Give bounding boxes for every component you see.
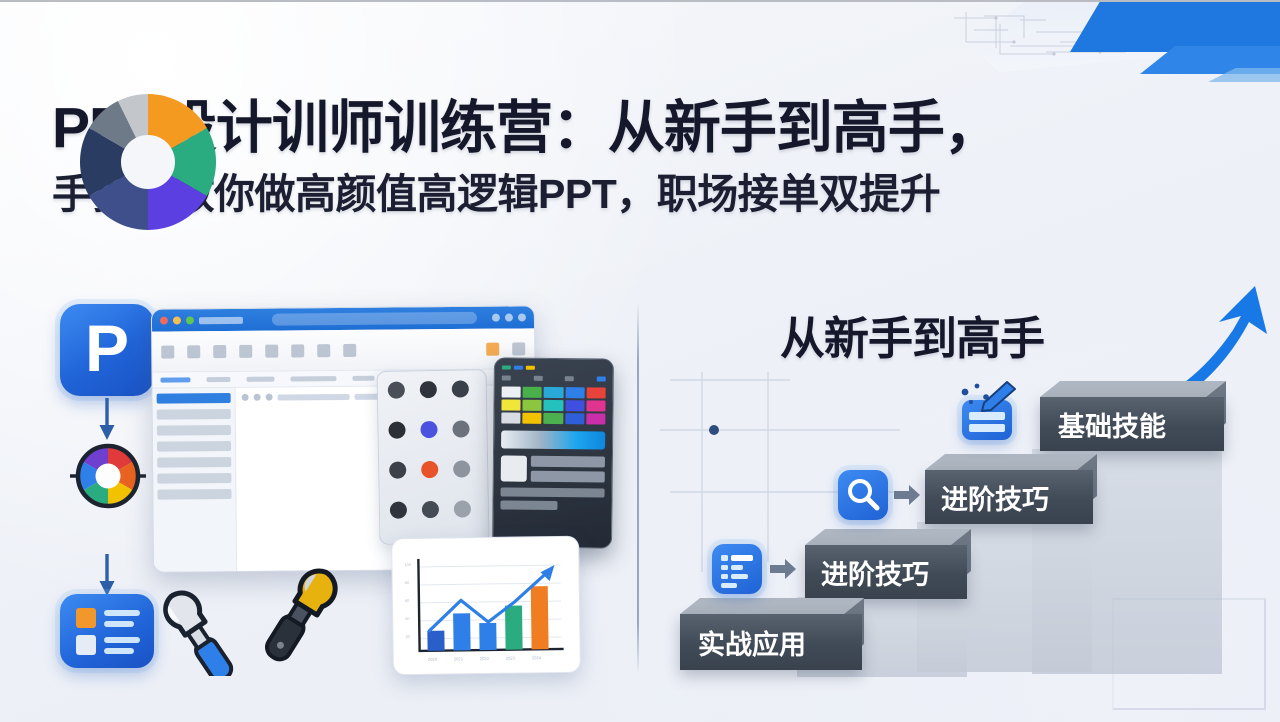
panel-toolbar[interactable] (502, 375, 606, 381)
panel-swatch[interactable] (586, 400, 605, 411)
powerpoint-letter: P (85, 315, 129, 381)
svg-text:2020: 2020 (428, 657, 438, 662)
panel-tool-icon[interactable] (565, 376, 574, 381)
svg-text:2022: 2022 (480, 656, 490, 661)
settings-icon[interactable] (518, 313, 526, 321)
ribbon-icon[interactable] (343, 343, 356, 356)
svg-text:100: 100 (404, 562, 412, 567)
step-basic-skills: 基础技能 (1040, 397, 1224, 451)
sidebar-item[interactable] (157, 457, 231, 468)
sidebar-item[interactable] (157, 473, 231, 484)
arrow-right-icon (894, 485, 920, 505)
panel-tool-icon[interactable] (597, 376, 606, 381)
swatch[interactable] (390, 501, 407, 518)
swatch[interactable] (388, 381, 405, 398)
step-label: 进阶技巧 (941, 478, 1049, 517)
panel-bar (531, 456, 605, 468)
vertical-divider (637, 302, 639, 674)
step-advanced-lower: 进阶技巧 (805, 545, 967, 599)
swatch[interactable] (452, 420, 469, 437)
account-icon[interactable] (505, 314, 513, 322)
canvas-dot-icon (254, 394, 261, 401)
panel-swatch[interactable] (586, 387, 605, 398)
panel-thumbnail[interactable] (501, 455, 527, 481)
layout-tile-icon (60, 594, 154, 668)
swatch[interactable] (420, 421, 437, 438)
window-title-text (199, 316, 243, 323)
swatch[interactable] (420, 381, 437, 398)
swatch[interactable] (454, 500, 471, 517)
corner-decoration (920, 2, 1280, 94)
panel-bar (531, 471, 605, 483)
step-label: 实战应用 (698, 623, 806, 662)
step-label: 基础技能 (1058, 405, 1166, 444)
panel-chip (526, 366, 535, 370)
panel-header (502, 365, 606, 370)
left-icon-stack: P (56, 302, 162, 662)
tab-item[interactable] (352, 376, 374, 381)
panel-swatch[interactable] (544, 400, 563, 411)
swatch[interactable] (389, 461, 406, 478)
step-face: 进阶技巧 (925, 470, 1093, 524)
panel-swatch[interactable] (501, 399, 520, 410)
canvas-dot-icon (266, 394, 273, 401)
share-icon[interactable] (492, 314, 500, 322)
search-icon[interactable] (838, 470, 888, 520)
sidebar-item[interactable] (157, 441, 231, 452)
grid-dot-icon (709, 425, 719, 435)
panel-chip (514, 366, 523, 370)
ribbon-icon[interactable] (291, 344, 304, 357)
wrench-tools-icon (160, 558, 360, 676)
headline-block: PPT设计训师训练营：从新手到高手， 手把手教你做高颜值高逻辑PPT，职场接单双… (52, 98, 1242, 218)
panel-swatch[interactable] (523, 387, 542, 398)
panel-swatch[interactable] (501, 412, 520, 423)
color-palette-panel[interactable] (492, 357, 614, 548)
minimize-dot-icon[interactable] (173, 316, 181, 324)
swatch[interactable] (421, 461, 438, 478)
page-subtitle: 手把手教你做高颜值高逻辑PPT，职场接单双提升 (52, 172, 1242, 217)
sparkle-pen-icon (955, 380, 1025, 422)
svg-text:2024: 2024 (532, 655, 542, 660)
ribbon-icon[interactable] (213, 345, 226, 358)
panel-swatch[interactable] (522, 413, 541, 424)
panel-tool-icon[interactable] (533, 376, 542, 381)
panel-swatch[interactable] (544, 413, 563, 424)
step-face: 实战应用 (680, 614, 862, 670)
panel-swatch[interactable] (565, 400, 584, 411)
chevron-down-icon[interactable] (512, 342, 525, 355)
svg-text:2021: 2021 (454, 656, 464, 661)
svg-text:20: 20 (405, 634, 410, 639)
panel-swatch[interactable] (586, 413, 605, 424)
tab-item[interactable] (290, 376, 336, 381)
ribbon-icon[interactable] (265, 344, 278, 357)
frame-decoration (1112, 598, 1266, 710)
panel-swatch[interactable] (565, 387, 584, 398)
sidebar-item[interactable] (157, 409, 231, 420)
canvas-placeholder-line (278, 393, 350, 400)
panel-chip (502, 365, 511, 369)
tab-item[interactable] (160, 377, 190, 382)
tab-item[interactable] (246, 377, 274, 382)
swatch[interactable] (452, 380, 469, 397)
panel-swatch[interactable] (502, 386, 521, 397)
panel-tool-icon[interactable] (502, 375, 511, 380)
step-face: 基础技能 (1040, 397, 1224, 451)
sidebar-item[interactable] (157, 425, 231, 436)
ribbon-icon-accent[interactable] (486, 342, 499, 355)
swatch[interactable] (388, 421, 405, 438)
sidebar-item-selected[interactable] (157, 393, 231, 404)
corner-blue-shape-1 (1070, 2, 1280, 52)
panel-swatch[interactable] (565, 413, 584, 424)
tab-item[interactable] (206, 377, 230, 382)
color-wheel-icon (70, 438, 146, 514)
swatch[interactable] (422, 501, 439, 518)
step-practical: 实战应用 (680, 614, 862, 670)
gradient-slider[interactable] (501, 430, 605, 449)
right-panel-title: 从新手到高手 (780, 302, 1044, 367)
poster-canvas: PPT设计训师训练营：从新手到高手， 手把手教你做高颜值高逻辑PPT，职场接单双… (0, 0, 1280, 722)
sidebar-item[interactable] (157, 489, 231, 500)
svg-text:40: 40 (405, 616, 410, 621)
arrow-down-icon-2 (96, 554, 118, 596)
step-advanced-upper: 进阶技巧 (925, 470, 1093, 524)
panel-footer-bar (501, 487, 605, 497)
canvas-dot-icon (242, 394, 249, 401)
page-title: PPT设计训师训练营：从新手到高手， (52, 98, 1242, 158)
step-face: 进阶技巧 (805, 545, 967, 599)
maximize-dot-icon[interactable] (186, 316, 194, 324)
bar-chart-card: 10080 6040 20 20202021 20222023 2024 (391, 536, 581, 676)
arrow-down-icon (96, 398, 118, 440)
window-sidebar[interactable] (153, 388, 238, 573)
address-bar[interactable] (272, 312, 477, 326)
form-icon[interactable] (712, 544, 762, 594)
panel-swatch-grid[interactable] (501, 386, 605, 424)
swatch-palette-card[interactable] (376, 369, 489, 545)
bar-chart: 10080 6040 20 20202021 20222023 2024 (392, 537, 580, 675)
ribbon-icon[interactable] (187, 345, 200, 358)
svg-text:2023: 2023 (506, 656, 516, 661)
panel-footer-bar (500, 500, 557, 510)
ribbon-icon[interactable] (161, 345, 174, 358)
close-dot-icon[interactable] (160, 317, 168, 325)
svg-text:80: 80 (405, 580, 410, 585)
arrow-right-icon-2 (770, 559, 796, 579)
donut-chart (72, 86, 224, 238)
ribbon-icon[interactable] (239, 344, 252, 357)
panel-swatch[interactable] (523, 400, 542, 411)
ribbon-icon[interactable] (317, 344, 330, 357)
svg-text:60: 60 (405, 598, 410, 603)
ribbon-toolbar[interactable] (152, 328, 534, 372)
swatch[interactable] (453, 460, 470, 477)
step-label: 进阶技巧 (821, 553, 929, 592)
panel-swatch[interactable] (544, 387, 563, 398)
powerpoint-tile-icon: P (60, 304, 154, 396)
panel-preview-row (501, 455, 605, 482)
